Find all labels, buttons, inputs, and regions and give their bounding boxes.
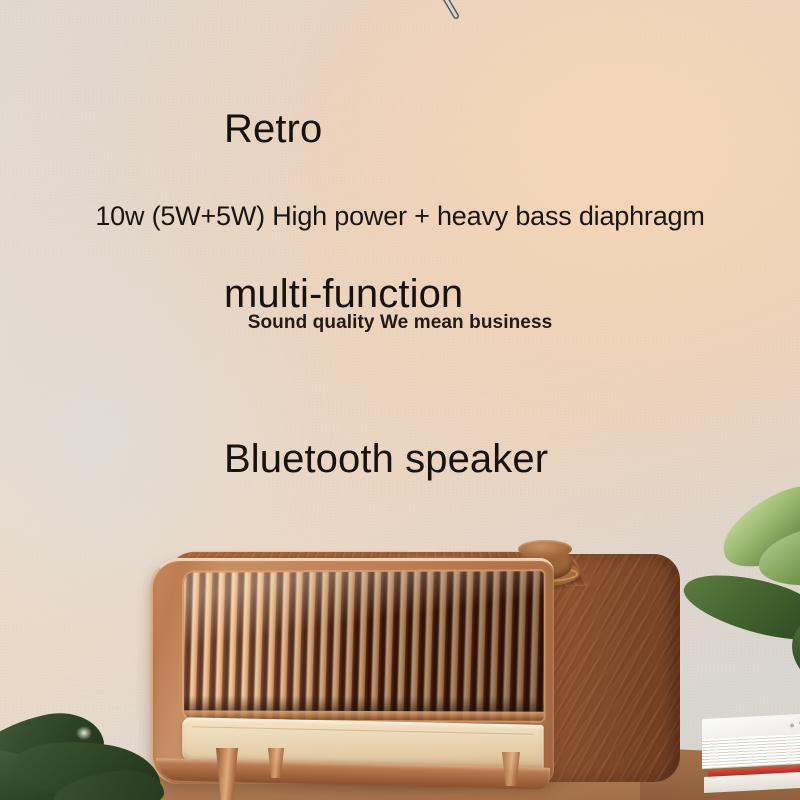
headline-line-3: Bluetooth speaker — [224, 432, 764, 487]
page-title: Retro multi-function Bluetooth speaker — [224, 0, 764, 597]
speaker-grille — [184, 571, 544, 721]
book-detail — [788, 719, 800, 732]
tagline: Sound quality We mean business — [0, 310, 800, 336]
panel-seam — [192, 726, 534, 735]
product-banner: Retro multi-function Bluetooth speaker 1… — [0, 0, 800, 800]
headline-line-1: Retro — [224, 102, 764, 157]
book-pages — [702, 733, 800, 769]
retro-bluetooth-speaker — [150, 524, 680, 800]
stacked-books — [702, 713, 800, 799]
knob-cap — [518, 540, 572, 558]
speaker-front-cabinet — [150, 558, 554, 784]
leaf-highlight — [76, 726, 92, 740]
spec-line: 10w (5W+5W) High power + heavy bass diap… — [0, 199, 800, 233]
plant-left — [0, 690, 180, 800]
